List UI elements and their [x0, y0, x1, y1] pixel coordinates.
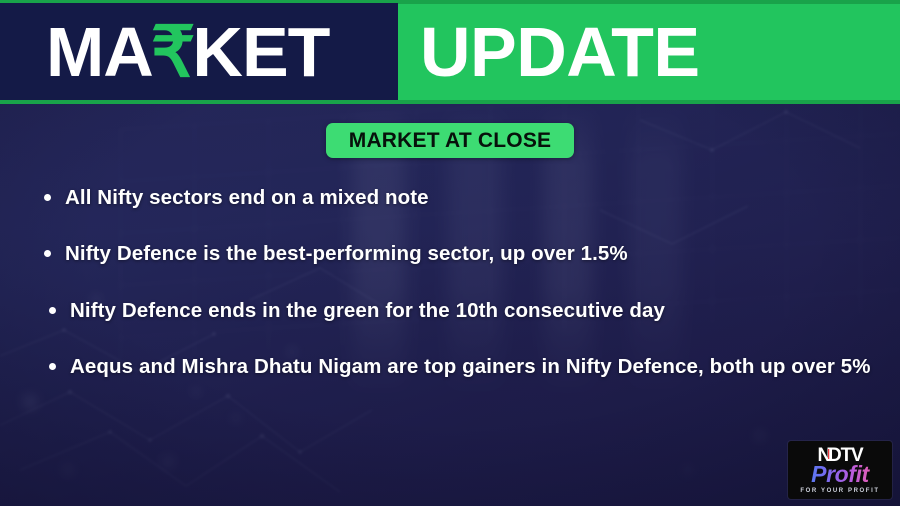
header-band: MA₹KET UPDATE	[0, 0, 900, 104]
bullet-dot-icon	[49, 307, 56, 314]
list-item: Nifty Defence ends in the green for the …	[44, 296, 874, 326]
bullet-dot-icon	[49, 363, 56, 370]
list-item: Aequs and Mishra Dhatu Nigam are top gai…	[44, 352, 874, 382]
market-update-slide: MA₹KET UPDATE MARKET AT CLOSE All Nifty …	[0, 0, 900, 506]
list-item-text: Aequs and Mishra Dhatu Nigam are top gai…	[70, 352, 871, 382]
list-item-text: Nifty Defence ends in the green for the …	[70, 296, 665, 326]
list-item: Nifty Defence is the best-performing sec…	[44, 239, 874, 269]
header-title-market-before: MA	[46, 17, 153, 87]
logo-tagline: FOR YOUR PROFIT	[788, 488, 892, 494]
header-title-market-after: KET	[192, 17, 329, 87]
list-item-text: Nifty Defence is the best-performing sec…	[65, 239, 628, 269]
list-item: All Nifty sectors end on a mixed note	[44, 183, 874, 213]
bullet-dot-icon	[44, 250, 51, 257]
header-title-market: MA₹KET	[46, 14, 329, 90]
ndtv-profit-logo: NIDTV Profit FOR YOUR PROFIT	[788, 441, 892, 499]
bullet-list: All Nifty sectors end on a mixed note Ni…	[44, 183, 874, 408]
market-at-close-badge: MARKET AT CLOSE	[326, 123, 574, 158]
logo-word-profit: Profit	[788, 463, 892, 486]
list-item-text: All Nifty sectors end on a mixed note	[65, 183, 429, 213]
header-title-update: UPDATE	[420, 14, 700, 90]
header-bottom-rule	[0, 100, 900, 104]
rupee-icon: ₹	[151, 17, 195, 87]
bullet-dot-icon	[44, 194, 51, 201]
